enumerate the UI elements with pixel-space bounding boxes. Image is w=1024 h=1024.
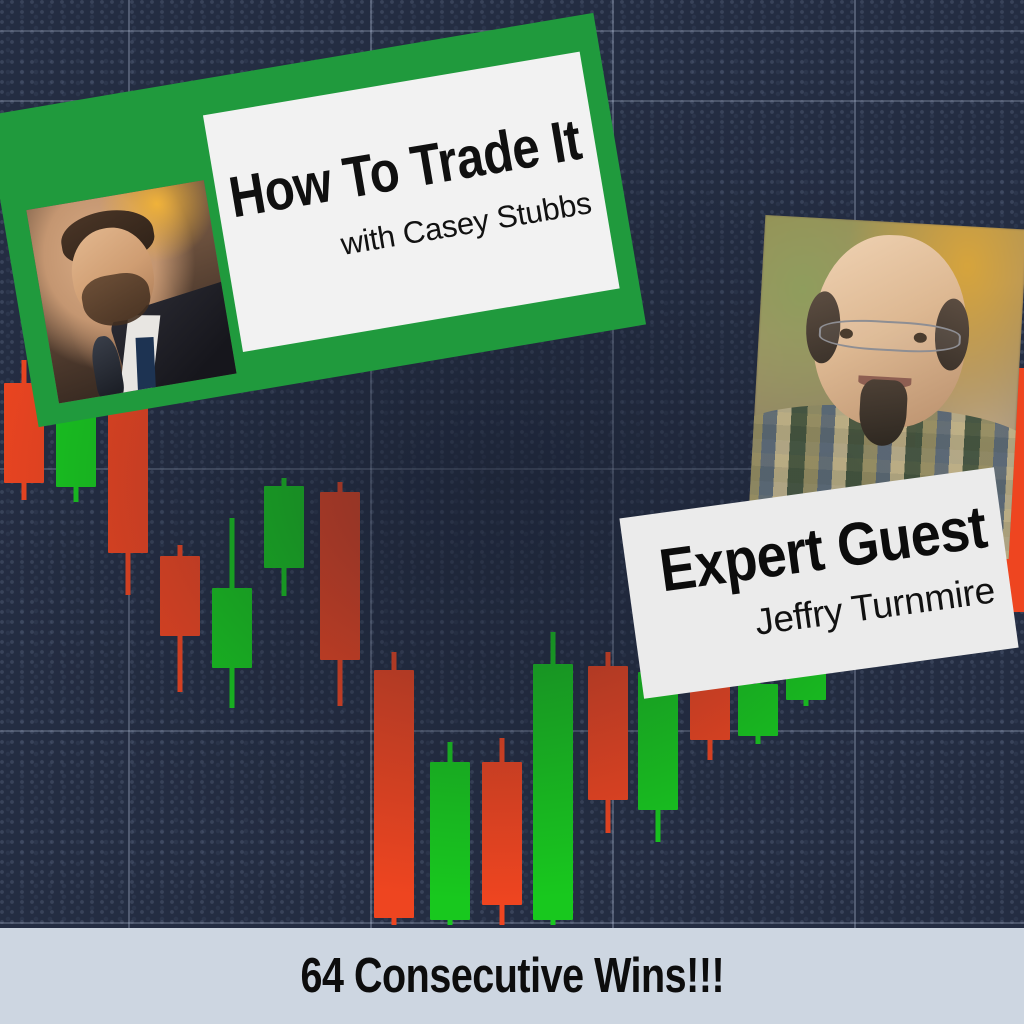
casey-stubbs-portrait: [26, 180, 236, 403]
bottom-headline-banner: 64 Consecutive Wins!!!: [0, 928, 1024, 1024]
bottom-headline-text: 64 Consecutive Wins!!!: [300, 948, 724, 1004]
guest-eye-right: [913, 332, 927, 343]
host-tie: [135, 337, 155, 393]
podcast-episode-poster: How To Trade It with Casey Stubbs Expert…: [0, 0, 1024, 1024]
host-photo: [26, 180, 236, 403]
